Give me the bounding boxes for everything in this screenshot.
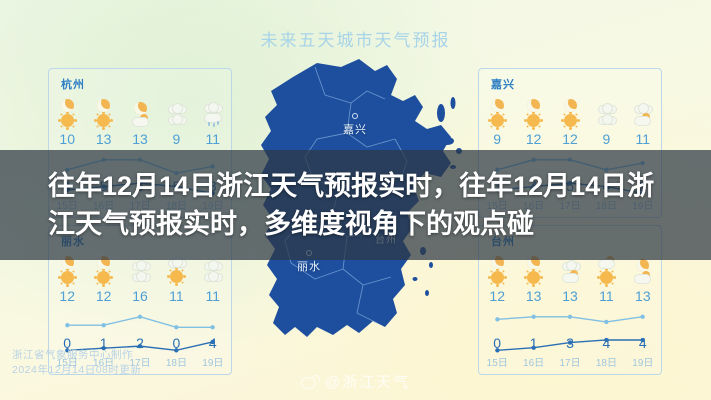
rain-icon xyxy=(204,113,221,126)
clear-night-icon xyxy=(134,102,147,115)
high-temp-value: 12 xyxy=(59,289,75,303)
map-label-text: 嘉兴 xyxy=(343,124,367,136)
forecast-date-label: 18日 xyxy=(166,354,187,369)
weather-icon-stack xyxy=(564,97,577,131)
clear-night-icon xyxy=(97,99,110,112)
sunny-icon xyxy=(97,271,110,284)
cloudy-icon xyxy=(132,260,149,271)
high-temp-value: 10 xyxy=(59,132,75,146)
high-temp-value: 9 xyxy=(173,132,181,146)
high-temp-value: 9 xyxy=(493,132,501,146)
cloudy-icon xyxy=(634,103,651,114)
high-temp-value: 12 xyxy=(562,132,578,146)
clear-night-icon xyxy=(61,99,74,112)
low-temp-value: 1 xyxy=(530,336,538,350)
high-temp-value: 13 xyxy=(635,289,651,303)
high-temp-value: 9 xyxy=(603,132,611,146)
partly-cloudy-day-icon xyxy=(562,271,579,283)
overlay-banner: 往年12月14日浙江天气预报实时，往年12月14日浙江天气预报实时，多维度视角下… xyxy=(0,150,711,260)
cloudy-icon xyxy=(562,260,579,271)
forecast-date-label: 18日 xyxy=(596,354,617,369)
partly-cloudy-day-icon xyxy=(634,272,651,284)
clear-night-icon xyxy=(636,259,649,272)
sunny-icon xyxy=(61,114,74,127)
sunny-icon xyxy=(170,270,183,283)
high-temp-value: 13 xyxy=(132,132,148,146)
map-city-marker-icon xyxy=(352,113,358,119)
high-temp-value: 11 xyxy=(169,289,184,303)
high-temp-value: 11 xyxy=(636,132,651,146)
sunny-icon xyxy=(600,271,613,284)
sunny-icon xyxy=(527,271,540,284)
weather-icon-stack xyxy=(168,97,185,131)
low-temp-value: 4 xyxy=(639,336,647,350)
low-temp-value: 0 xyxy=(493,336,501,350)
weather-icon-stack xyxy=(97,97,110,131)
low-temp-value: 4 xyxy=(603,336,611,350)
high-temp-value: 11 xyxy=(599,289,614,303)
high-temp-value: 12 xyxy=(96,289,112,303)
high-temp-value: 16 xyxy=(132,289,148,303)
sunny-icon xyxy=(491,271,504,284)
forecast-date-label: 17日 xyxy=(559,354,580,369)
weather-icon-stack xyxy=(598,97,615,131)
map-label-text: 丽水 xyxy=(297,261,321,273)
high-temp-value: 11 xyxy=(206,289,221,303)
partly-cloudy-day-icon xyxy=(634,114,651,126)
high-temp-value: 13 xyxy=(526,289,542,303)
watermark-text: @浙江天气 xyxy=(325,371,410,392)
cloudy-icon xyxy=(168,103,185,114)
high-temp-value: 12 xyxy=(526,132,542,146)
weibo-icon xyxy=(301,375,320,388)
high-temp-value: 13 xyxy=(96,132,112,146)
cloudy-icon xyxy=(204,271,221,282)
high-temp-value: 13 xyxy=(562,289,578,303)
cloudy-icon xyxy=(598,114,615,125)
watermark: @浙江天气 xyxy=(0,371,711,392)
weather-icon-stack xyxy=(61,97,74,131)
forecast-date-label: 15日 xyxy=(487,354,508,369)
weather-icon-stack xyxy=(204,97,221,131)
low-temp-value: 0 xyxy=(173,336,181,350)
sunny-icon xyxy=(564,114,577,127)
weather-icon-stack xyxy=(634,97,651,131)
footer-line-producer: 浙江省气象服务中心制作 xyxy=(12,348,141,363)
weather-forecast-image: 未来五天城市天气预报 xyxy=(0,0,711,400)
cloudy-icon xyxy=(204,260,221,271)
forecast-date-label: 16日 xyxy=(523,354,544,369)
sunny-icon xyxy=(527,114,540,127)
cloudy-icon xyxy=(598,103,615,114)
forecast-date-label: 19日 xyxy=(632,354,653,369)
clear-night-icon xyxy=(491,99,504,112)
overlay-headline: 往年12月14日浙江天气预报实时，往年12月14日浙江天气预报实时，多维度视角下… xyxy=(0,167,711,243)
forecast-date-label: 19日 xyxy=(202,354,223,369)
clear-night-icon xyxy=(527,99,540,112)
map-label-jiaxing: 嘉兴 xyxy=(343,113,367,137)
cloudy-icon xyxy=(168,114,185,125)
sunny-icon xyxy=(61,271,74,284)
page-title: 未来五天城市天气预报 xyxy=(0,26,711,51)
clear-night-icon xyxy=(564,99,577,112)
weather-icon-stack xyxy=(527,97,540,131)
weather-icon-stack xyxy=(491,97,504,131)
high-temp-value: 12 xyxy=(489,289,505,303)
low-temp-value: 4 xyxy=(209,336,217,350)
sunny-icon xyxy=(97,114,110,127)
weather-icon-stack xyxy=(132,97,149,131)
low-temp-value: 3 xyxy=(566,336,574,350)
cloudy-icon xyxy=(204,102,221,113)
partly-cloudy-day-icon xyxy=(132,115,149,127)
high-temp-value: 11 xyxy=(206,132,221,146)
cloudy-icon xyxy=(132,271,149,282)
sunny-icon xyxy=(491,114,504,127)
